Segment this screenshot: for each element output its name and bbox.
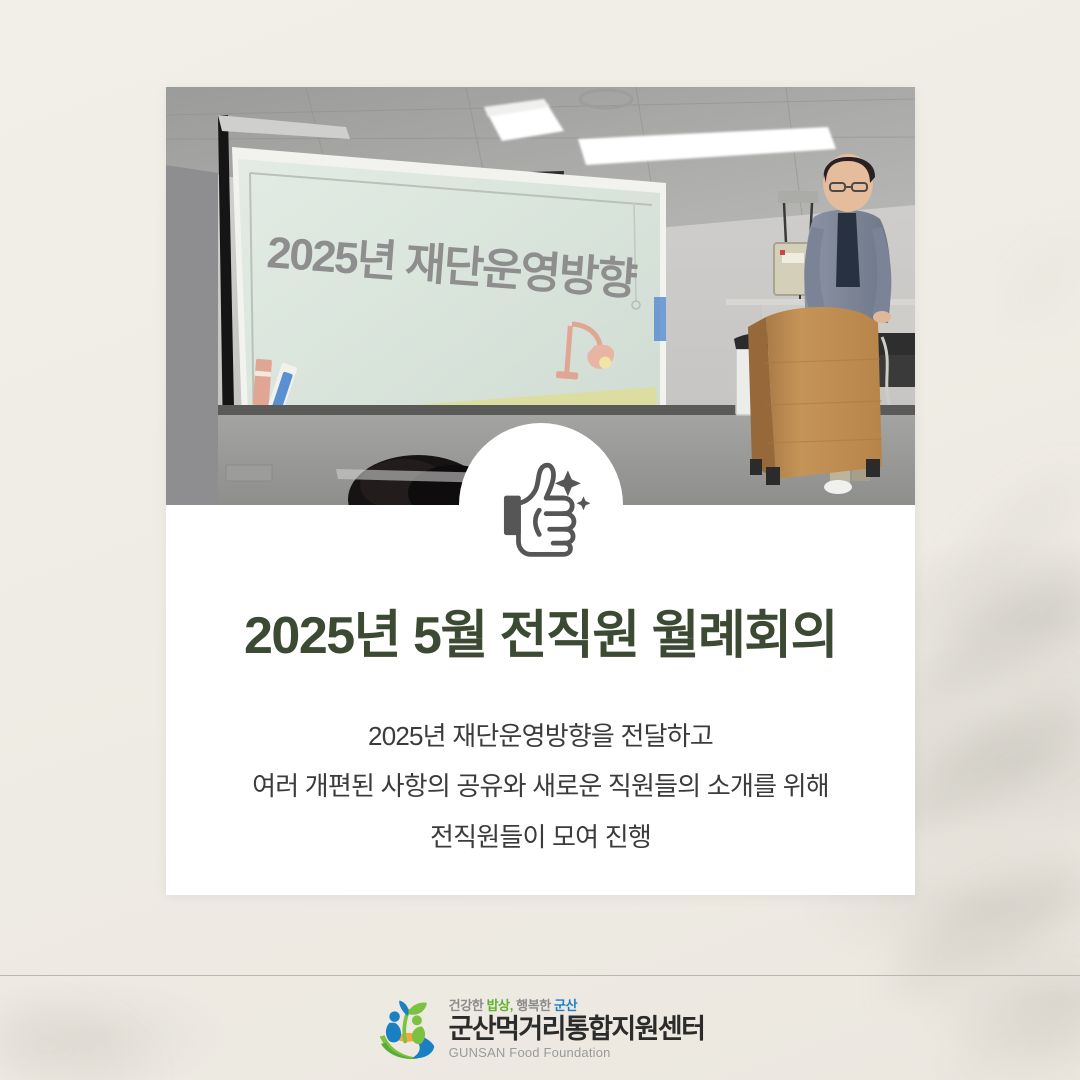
logo-text: 건강한 밥상, 행복한 군산 군산먹거리통합지원센터 GUNSAN Food F… [449, 999, 705, 1059]
body-line-2: 여러 개편된 사항의 공유와 새로운 직원들의 소개를 위해 [166, 761, 915, 812]
page-title: 2025년 5월 전직원 월례회의 [166, 607, 915, 667]
tagline-part-1: 건강한 [449, 998, 487, 1013]
logo-tagline: 건강한 밥상, 행복한 군산 [449, 999, 705, 1012]
logo-mark-icon [376, 998, 438, 1060]
logo-name: 군산먹거리통합지원센터 [449, 1016, 705, 1043]
footer: 건강한 밥상, 행복한 군산 군산먹거리통합지원센터 GUNSAN Food F… [0, 978, 1080, 1080]
body-line-1: 2025년 재단운영방향을 전달하고 [166, 711, 915, 762]
logo-subtitle: GUNSAN Food Foundation [449, 1046, 705, 1059]
tagline-part-4: 군산 [554, 998, 577, 1013]
tagline-part-3: 행복한 [513, 998, 554, 1013]
organization-logo: 건강한 밥상, 행복한 군산 군산먹거리통합지원센터 GUNSAN Food F… [376, 998, 705, 1060]
tagline-part-2: 밥상, [487, 998, 513, 1013]
poster-background: 2025년 재단운영방향 [0, 0, 1080, 1080]
thumbs-up-badge [459, 423, 623, 587]
body-line-3: 전직원들이 모여 진행 [166, 812, 915, 863]
footer-divider [0, 975, 1080, 976]
thumbs-up-icon [489, 453, 593, 557]
content-card: 2025년 재단운영방향 [166, 87, 915, 895]
text-block: 2025년 5월 전직원 월례회의 2025년 재단운영방향을 전달하고 여러 … [166, 607, 915, 863]
